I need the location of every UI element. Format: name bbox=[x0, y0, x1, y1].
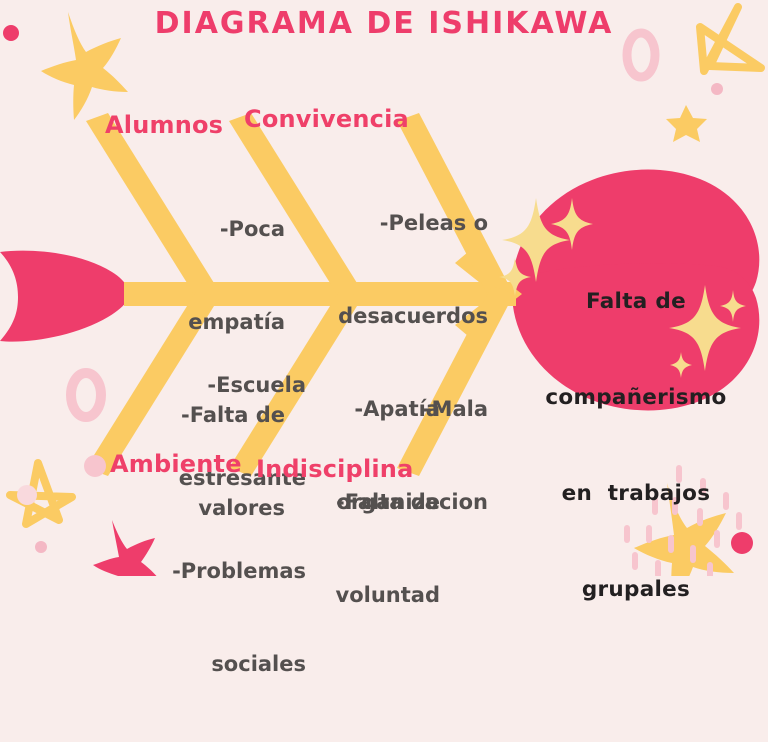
causes-indisciplina: -Apatía -Falta de voluntad bbox=[288, 332, 440, 673]
effect-line: Falta de bbox=[520, 286, 752, 318]
effect-statement: Falta de compañerismo en trabajos grupal… bbox=[520, 222, 752, 670]
cause-line: -Apatía bbox=[288, 394, 440, 425]
cause-line: voluntad bbox=[288, 580, 440, 611]
cause-line: -Problemas bbox=[130, 556, 306, 587]
category-label-alumnos: Alumnos bbox=[105, 111, 223, 139]
cause-line: -Escuela bbox=[130, 370, 306, 401]
cause-line: sociales bbox=[130, 649, 306, 680]
page-title: Diagrama de Ishikawa bbox=[0, 6, 768, 41]
category-label-ambiente: Ambiente bbox=[110, 450, 242, 478]
cause-line: -Poca bbox=[105, 214, 285, 245]
category-label-convivencia: Convivencia bbox=[244, 105, 409, 133]
effect-line: compañerismo bbox=[520, 382, 752, 414]
effect-line: en trabajos bbox=[520, 478, 752, 510]
cause-line: -Peleas o bbox=[268, 208, 488, 239]
cause-line: -Falta de bbox=[288, 487, 440, 518]
causes-ambiente: -Escuela estresante -Problemas sociales bbox=[130, 308, 306, 742]
effect-line: grupales bbox=[520, 574, 752, 606]
category-label-indisciplina: Indisciplina bbox=[256, 455, 413, 483]
ishikawa-diagram-canvas: Diagrama de Ishikawa Alumnos -Poca empat… bbox=[0, 0, 768, 576]
text-layer: Diagrama de Ishikawa Alumnos -Poca empat… bbox=[0, 0, 768, 576]
